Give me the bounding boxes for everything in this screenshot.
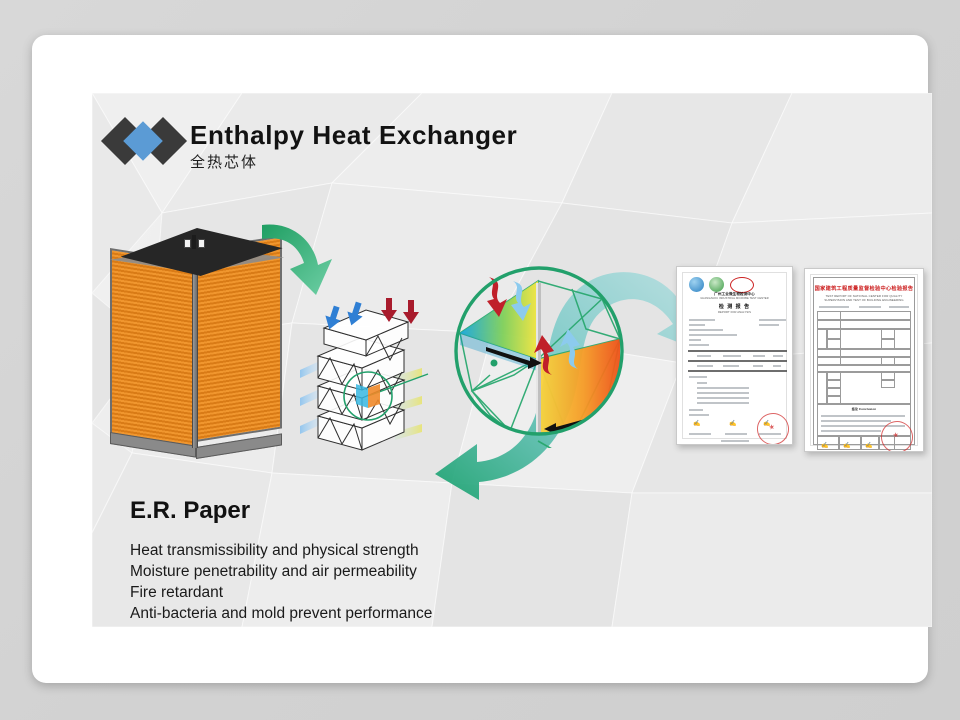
core-corner-post (192, 252, 198, 448)
membrane-magnifier-detail (452, 263, 627, 448)
feature-item: Heat transmissibility and physical stren… (130, 540, 432, 561)
feature-list: Heat transmissibility and physical stren… (130, 540, 432, 624)
certificate-body: 广州工业微生物检测中心 GUANGZHOU INDUSTRIAL MICROBE… (682, 272, 787, 439)
cert2-title-en-2: SUPERVISION AND TEST OF BUILDING ENGINEE… (811, 298, 917, 302)
slide-card: Enthalpy Heat Exchanger 全热芯体 (32, 35, 928, 683)
certificate-building-engineering[interactable]: 国家建筑工程质量监督检验中心检验报告 TEST REPORT OF NATION… (804, 268, 924, 452)
slide-root: Enthalpy Heat Exchanger 全热芯体 (0, 0, 960, 720)
page-subtitle-chinese: 全热芯体 (190, 151, 258, 172)
core-notch-left (184, 239, 191, 248)
core-notch-right (198, 239, 205, 248)
blue-globe-logo-icon (689, 277, 704, 292)
cert1-title-cn: 检 测 报 告 (683, 303, 786, 310)
feature-item: Moisture penetrability and air permeabil… (130, 561, 432, 582)
feature-item: Anti-bacteria and mold prevent performan… (130, 603, 432, 624)
cert2-signature-1: ✍ (821, 442, 828, 449)
cert1-title-en: REPORT FOR ANALYSIS (683, 311, 786, 314)
content-panel: Enthalpy Heat Exchanger 全热芯体 (92, 93, 932, 627)
core-face-left (110, 248, 196, 455)
core-handle-post (192, 235, 196, 249)
cert1-signature-1: ✍ (693, 420, 700, 427)
certificate-microbiology[interactable]: 广州工业微生物检测中心 GUANGZHOU INDUSTRIAL MICROBE… (676, 266, 793, 445)
cert2-signature-2: ✍ (843, 442, 850, 449)
cert2-signature-3: ✍ (865, 442, 872, 449)
green-circle-logo-icon (709, 277, 724, 292)
cert1-signature-2: ✍ (729, 420, 736, 427)
red-oval-logo-icon (730, 277, 754, 293)
brand-logo (102, 113, 192, 169)
feature-item: Fire retardant (130, 582, 432, 603)
section-heading: E.R. Paper (130, 497, 250, 525)
corrugated-plate-stack (300, 298, 430, 453)
cert2-title-cn: 国家建筑工程质量监督检验中心检验报告 (811, 285, 917, 292)
page-title: Enthalpy Heat Exchanger (190, 120, 517, 151)
certificate-body: 国家建筑工程质量监督检验中心检验报告 TEST REPORT OF NATION… (810, 274, 918, 446)
cert1-red-seal: ★ (754, 410, 792, 445)
core-to-stack-arrow (260, 213, 355, 303)
cert1-org-en: GUANGZHOU INDUSTRIAL MICROBE TEST CENTER (683, 297, 786, 300)
